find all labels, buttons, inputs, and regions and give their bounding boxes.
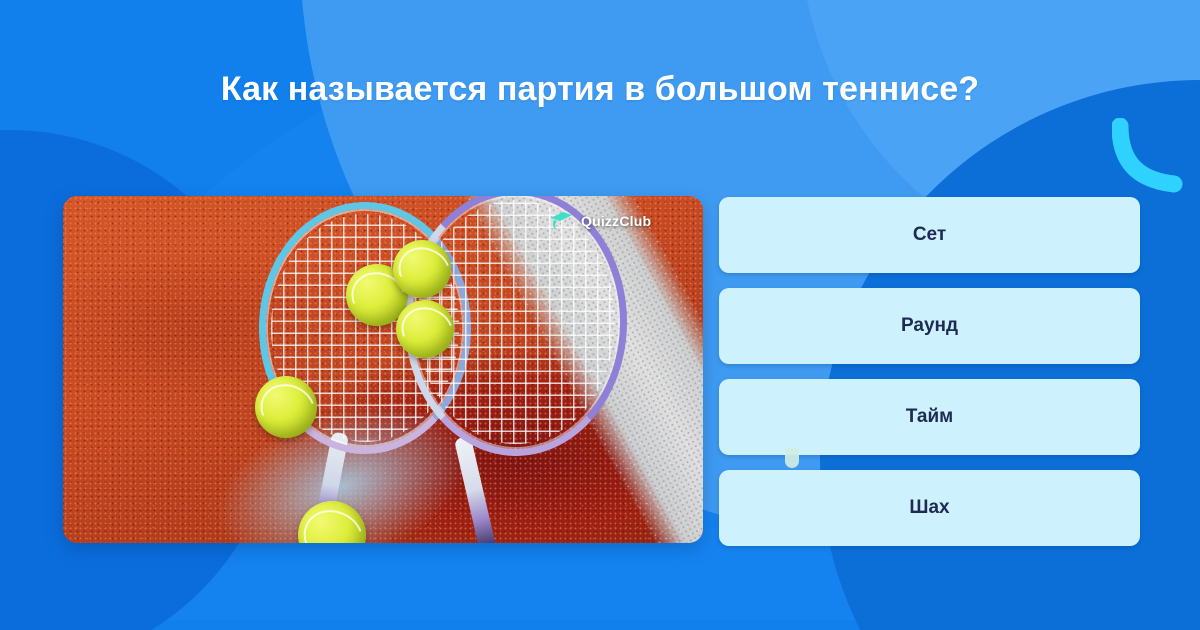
question-image: QuizzClub (63, 196, 703, 543)
answer-option-1[interactable]: Сет (719, 197, 1140, 273)
answer-option-3[interactable]: Тайм (719, 379, 1140, 455)
answer-option-4[interactable]: Шах (719, 470, 1140, 546)
answer-option-3-notch (785, 448, 799, 468)
quizzclub-cap-icon (548, 209, 574, 233)
quiz-card: Как называется партия в большом теннисе? (0, 0, 1200, 630)
answer-option-2[interactable]: Раунд (719, 288, 1140, 364)
brand-name: QuizzClub (581, 213, 651, 229)
tennis-court-photo: QuizzClub (63, 196, 703, 543)
answer-option-2-label: Раунд (901, 315, 958, 337)
answer-option-4-label: Шах (909, 497, 949, 519)
answer-option-1-label: Сет (913, 224, 946, 246)
tennis-ball (255, 376, 317, 438)
tennis-ball (396, 300, 454, 358)
brand-badge: QuizzClub (544, 206, 660, 236)
answer-option-3-label: Тайм (906, 406, 953, 428)
tennis-ball (393, 240, 451, 298)
answer-list: Сет Раунд Тайм Шах (719, 197, 1140, 546)
cyan-arc-icon (1112, 118, 1190, 196)
question-title: Как называется партия в большом теннисе? (0, 70, 1200, 109)
